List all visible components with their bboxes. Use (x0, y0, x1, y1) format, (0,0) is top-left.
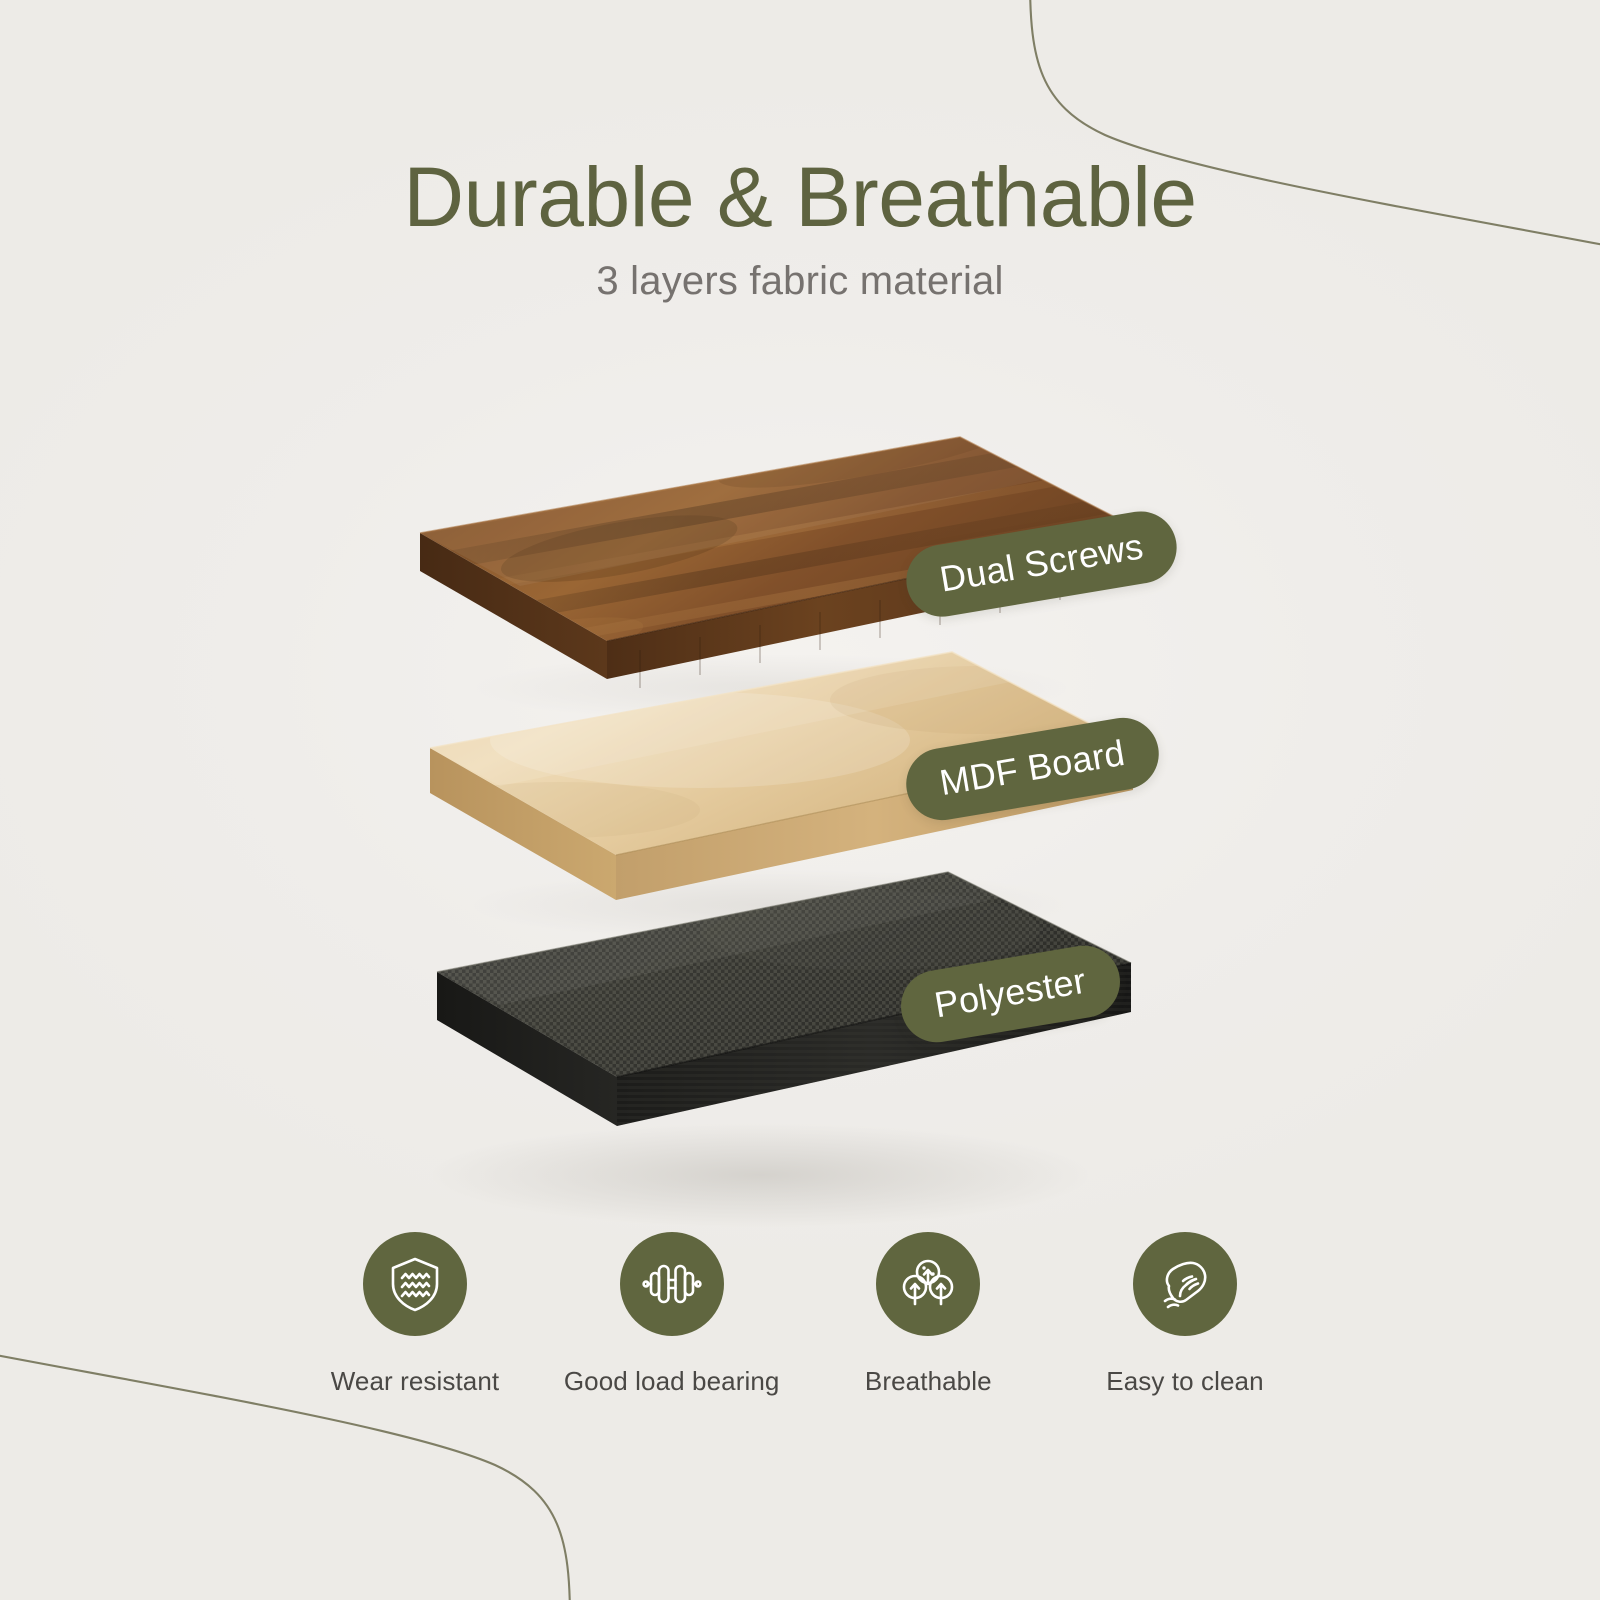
dumbbell-icon (641, 1253, 703, 1315)
stack-shadow (430, 1123, 1090, 1227)
feature-label: Wear resistant (331, 1366, 500, 1397)
feature-icon-circle (1133, 1232, 1237, 1336)
breathable-icon (898, 1254, 958, 1314)
feature-label: Breathable (865, 1366, 992, 1397)
hand-wipe-icon (1155, 1254, 1215, 1314)
infographic-page: Durable & Breathable 3 layers fabric mat… (0, 0, 1600, 1600)
feature-icon-circle (876, 1232, 980, 1336)
feature-label: Easy to clean (1106, 1366, 1263, 1397)
feature-good-load-bearing: Good load bearing (557, 1232, 787, 1397)
feature-wear-resistant: Wear resistant (300, 1232, 530, 1397)
feature-icon-circle (363, 1232, 467, 1336)
feature-easy-to-clean: Easy to clean (1070, 1232, 1300, 1397)
feature-label: Good load bearing (564, 1366, 780, 1397)
feature-icon-circle (620, 1232, 724, 1336)
shield-wave-icon (385, 1254, 445, 1314)
feature-breathable: Breathable (813, 1232, 1043, 1397)
feature-list: Wear resistant (300, 1232, 1300, 1397)
